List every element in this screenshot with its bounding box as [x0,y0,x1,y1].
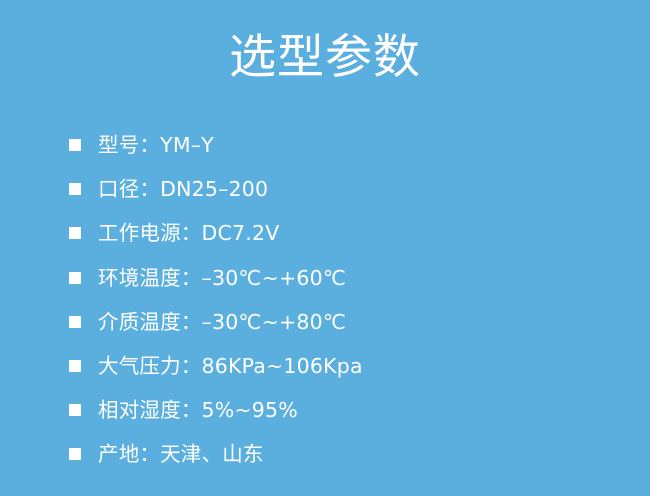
list-item: 口径：DN25–200 [69,167,629,211]
square-bullet-icon [69,448,81,460]
list-item: 型号：YM–Y [69,123,629,167]
spec-text: 产地：天津、山东 [98,442,264,466]
spec-text: 工作电源：DC7.2V [98,221,279,245]
square-bullet-icon [69,404,81,416]
square-bullet-icon [69,139,81,151]
list-item: 环境温度：–30℃~+60℃ [69,256,629,300]
list-item: 工作电源：DC7.2V [69,211,629,255]
list-item: 相对湿度：5%~95% [69,388,629,432]
square-bullet-icon [69,272,81,284]
selection-parameters-poster: 选型参数 型号：YM–Y 口径：DN25–200 工作电源：DC7.2V 环境温… [0,0,650,496]
spec-text: 型号：YM–Y [98,133,214,157]
page-title: 选型参数 [0,27,650,89]
spec-text: 大气压力：86KPa~106Kpa [98,354,363,378]
list-item: 介质温度：–30℃~+80℃ [69,300,629,344]
spec-list: 型号：YM–Y 口径：DN25–200 工作电源：DC7.2V 环境温度：–30… [69,123,629,477]
list-item: 产地：天津、山东 [69,432,629,476]
square-bullet-icon [69,360,81,372]
list-item: 大气压力：86KPa~106Kpa [69,344,629,388]
square-bullet-icon [69,227,81,239]
spec-text: 口径：DN25–200 [98,177,268,201]
square-bullet-icon [69,316,81,328]
square-bullet-icon [69,183,81,195]
spec-text: 介质温度：–30℃~+80℃ [98,310,346,334]
spec-text: 环境温度：–30℃~+60℃ [98,266,346,290]
spec-text: 相对湿度：5%~95% [98,398,298,422]
